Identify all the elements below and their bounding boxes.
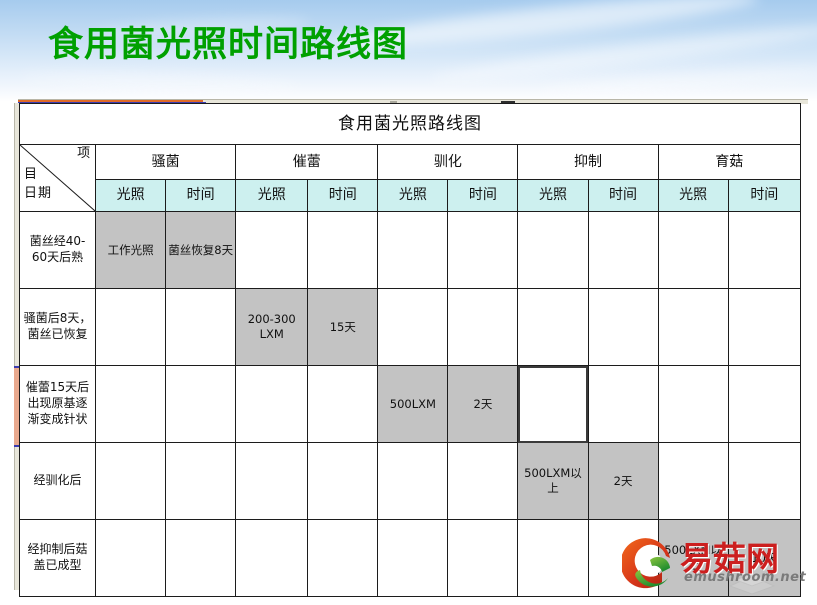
group-header-row: 项 目 日期 骚菌 催蕾 驯化 抑制 育菇	[20, 145, 801, 180]
data-cell[interactable]	[166, 443, 236, 520]
table-title-row: 食用菌光照路线图	[20, 104, 801, 145]
data-cell[interactable]: 工作光照	[96, 212, 166, 289]
lighting-schedule-table: 食用菌光照路线图 项 目 日期 骚菌 催蕾 驯化 抑制 育菇 光照时间光	[19, 103, 801, 597]
data-cell[interactable]: 2天	[448, 366, 518, 443]
data-cell[interactable]	[728, 289, 800, 366]
data-cell[interactable]	[658, 212, 728, 289]
row-header-cell[interactable]: 骚菌后8天，菌丝已恢复	[20, 289, 96, 366]
sub-header-light-8[interactable]: 光照	[658, 180, 728, 212]
data-cell[interactable]	[308, 443, 378, 520]
cloud-wisp-icon	[20, 69, 300, 95]
sub-header-time-1[interactable]: 时间	[166, 180, 236, 212]
sub-header-light-2[interactable]: 光照	[236, 180, 308, 212]
group-header-cuilei[interactable]: 催蕾	[236, 145, 378, 180]
data-cell[interactable]: 500LXM以上	[658, 520, 728, 597]
data-cell[interactable]	[588, 289, 658, 366]
sub-header-time-9[interactable]: 时间	[728, 180, 800, 212]
corner-label-item-top: 项	[77, 146, 90, 163]
data-cell[interactable]: 10天	[728, 520, 800, 597]
sub-header-light-0[interactable]: 光照	[96, 180, 166, 212]
table-row: 经驯化后500LXM以上2天	[20, 443, 801, 520]
data-cell[interactable]	[588, 520, 658, 597]
table-row: 经抑制后菇盖已成型500LXM以上10天	[20, 520, 801, 597]
data-cell[interactable]	[378, 443, 448, 520]
data-cell[interactable]	[236, 520, 308, 597]
slide-canvas: 食用菌光照时间路线图 食用菌光照路线图	[0, 0, 817, 605]
data-cell[interactable]	[588, 366, 658, 443]
data-cell[interactable]: 500LXM	[378, 366, 448, 443]
data-cell[interactable]	[588, 212, 658, 289]
sub-header-light-6[interactable]: 光照	[518, 180, 588, 212]
data-cell[interactable]	[96, 520, 166, 597]
data-cell[interactable]	[448, 443, 518, 520]
data-cell[interactable]	[378, 212, 448, 289]
data-cell[interactable]	[728, 443, 800, 520]
sub-header-row: 光照时间光照时间光照时间光照时间光照时间	[20, 180, 801, 212]
group-header-saojun[interactable]: 骚菌	[96, 145, 236, 180]
group-header-xunhua[interactable]: 驯化	[378, 145, 518, 180]
group-header-yizhi[interactable]: 抑制	[518, 145, 658, 180]
data-cell[interactable]	[166, 366, 236, 443]
data-cell[interactable]	[448, 212, 518, 289]
table-title: 食用菌光照路线图	[20, 104, 801, 145]
data-cell[interactable]	[236, 366, 308, 443]
corner-label-date: 日期	[24, 186, 52, 203]
group-header-yugu[interactable]: 育菇	[658, 145, 800, 180]
data-cell[interactable]	[166, 520, 236, 597]
data-cell[interactable]: 500LXM以上	[518, 443, 588, 520]
data-cell[interactable]: 菌丝恢复8天	[166, 212, 236, 289]
data-cell[interactable]	[658, 366, 728, 443]
data-cell[interactable]	[518, 212, 588, 289]
data-cell[interactable]	[236, 212, 308, 289]
data-cell[interactable]	[378, 520, 448, 597]
data-cell[interactable]	[166, 289, 236, 366]
sub-header-time-7[interactable]: 时间	[588, 180, 658, 212]
data-cell[interactable]: 200-300 LXM	[236, 289, 308, 366]
table-row: 菌丝经40-60天后熟工作光照菌丝恢复8天	[20, 212, 801, 289]
data-cell[interactable]	[448, 520, 518, 597]
data-cell[interactable]	[658, 289, 728, 366]
row-header-cell[interactable]: 催蕾15天后出现原基逐渐变成针状	[20, 366, 96, 443]
table-row: 骚菌后8天，菌丝已恢复200-300 LXM15天	[20, 289, 801, 366]
row-header-cell[interactable]: 菌丝经40-60天后熟	[20, 212, 96, 289]
data-cell[interactable]: 15天	[308, 289, 378, 366]
selected-cell[interactable]	[518, 366, 588, 443]
data-cell[interactable]	[96, 366, 166, 443]
data-cell[interactable]	[518, 520, 588, 597]
row-header-cell[interactable]: 经驯化后	[20, 443, 96, 520]
data-cell[interactable]	[728, 212, 800, 289]
data-cell[interactable]	[518, 289, 588, 366]
data-cell[interactable]	[308, 212, 378, 289]
data-cell[interactable]	[378, 289, 448, 366]
page-title: 食用菌光照时间路线图	[48, 28, 408, 63]
sub-header-light-4[interactable]: 光照	[378, 180, 448, 212]
corner-label-item-bottom: 目	[24, 167, 37, 184]
sub-header-time-5[interactable]: 时间	[448, 180, 518, 212]
data-cell[interactable]	[96, 443, 166, 520]
row-header-cell[interactable]: 经抑制后菇盖已成型	[20, 520, 96, 597]
data-cell[interactable]	[658, 443, 728, 520]
table-row: 催蕾15天后出现原基逐渐变成针状500LXM2天	[20, 366, 801, 443]
data-cell[interactable]: 2天	[588, 443, 658, 520]
data-cell[interactable]	[308, 366, 378, 443]
corner-header-cell: 项 目 日期	[20, 145, 96, 212]
data-cell[interactable]	[308, 520, 378, 597]
data-cell[interactable]	[448, 289, 518, 366]
data-cell[interactable]	[96, 289, 166, 366]
data-cell[interactable]	[236, 443, 308, 520]
data-cell[interactable]	[728, 366, 800, 443]
sub-header-time-3[interactable]: 时间	[308, 180, 378, 212]
